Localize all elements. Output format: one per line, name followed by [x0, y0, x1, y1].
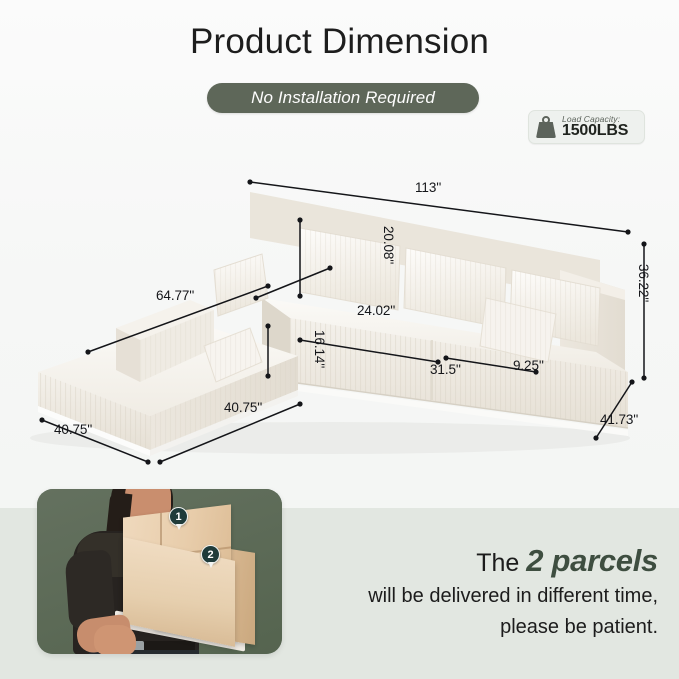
- dim-chaise-width-side: 40.75'': [224, 400, 262, 415]
- copy-line3: please be patient.: [300, 613, 658, 641]
- shipping-copy: The 2 parcels will be delivered in diffe…: [300, 543, 658, 641]
- dim-overall-width: 113'': [415, 180, 441, 195]
- dim-seat-depth: 24.02'': [357, 303, 395, 318]
- dim-back-cushion-height: 20.08'': [381, 226, 396, 264]
- dim-overall-height: 36.22'': [636, 264, 651, 302]
- person-hand: [94, 625, 136, 654]
- copy-line1-highlight: 2 parcels: [526, 543, 658, 578]
- no-installation-badge: No Installation Required: [207, 83, 479, 113]
- infographic-canvas: Product Dimension No Installation Requir…: [0, 0, 679, 679]
- load-capacity-value: 1500LBS: [562, 123, 628, 139]
- parcel-badge-2: 2: [201, 545, 220, 564]
- dim-seat-width-right: 9.25'': [513, 358, 544, 373]
- copy-line2: will be delivered in different time,: [300, 582, 658, 610]
- dim-seat-height: 16.14'': [312, 330, 327, 368]
- dim-seat-width-left: 31.5'': [430, 362, 461, 377]
- no-installation-label: No Installation Required: [251, 88, 435, 108]
- weight-icon: [535, 115, 557, 139]
- load-capacity-chip: Load Capacity: 1500LBS: [528, 110, 645, 144]
- copy-line1-prefix: The: [476, 549, 519, 577]
- parcel-badge-1: 1: [169, 507, 188, 526]
- delivery-photo: 1 2: [37, 489, 282, 654]
- dim-chaise-width-front: 40.75'': [54, 422, 92, 437]
- dim-overall-depth: 41.73'': [600, 412, 638, 427]
- page-title: Product Dimension: [0, 22, 679, 62]
- dim-chaise-length: 64.77'': [156, 288, 194, 303]
- sofa-illustration: [0, 150, 679, 470]
